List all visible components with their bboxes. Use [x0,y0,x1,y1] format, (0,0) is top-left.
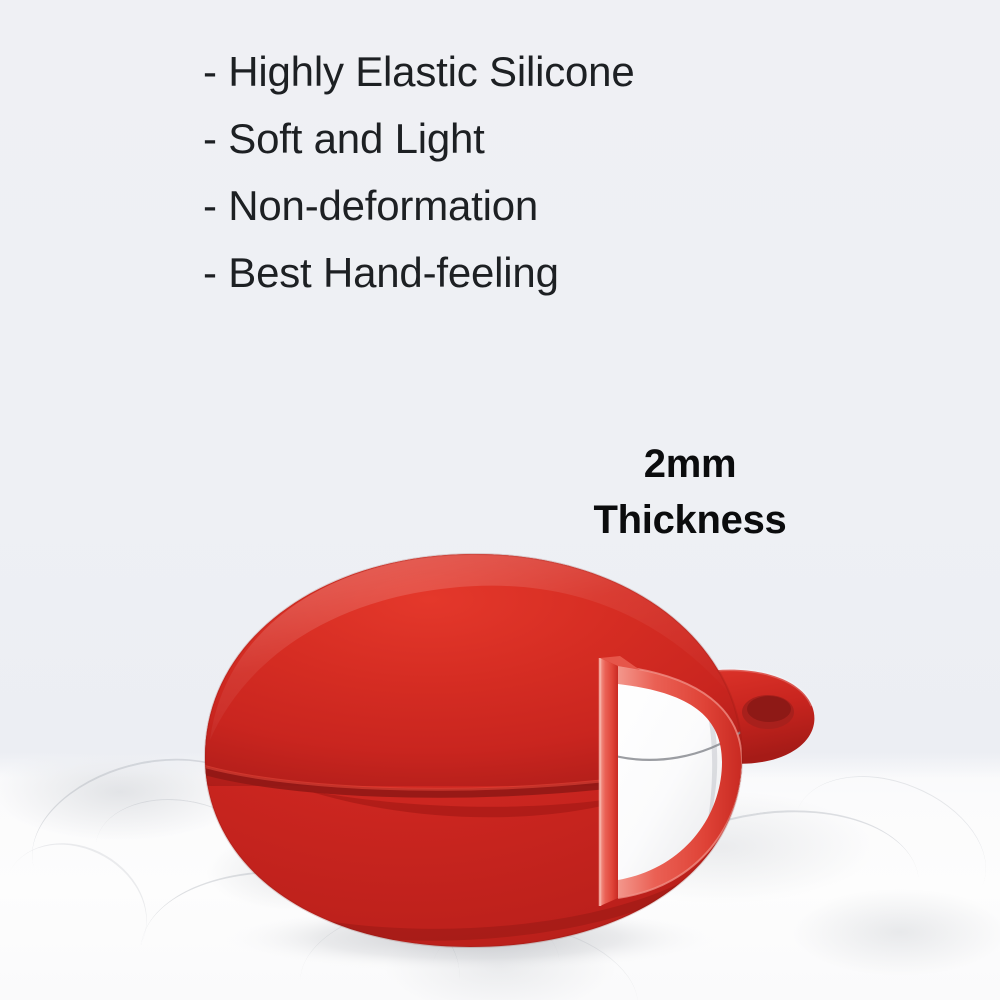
product-feature-graphic: - Highly Elastic Silicone - Soft and Lig… [0,0,1000,1000]
wall-cut-face-vertical [600,658,618,906]
product-illustration [0,0,1000,1000]
case-body [180,520,780,980]
